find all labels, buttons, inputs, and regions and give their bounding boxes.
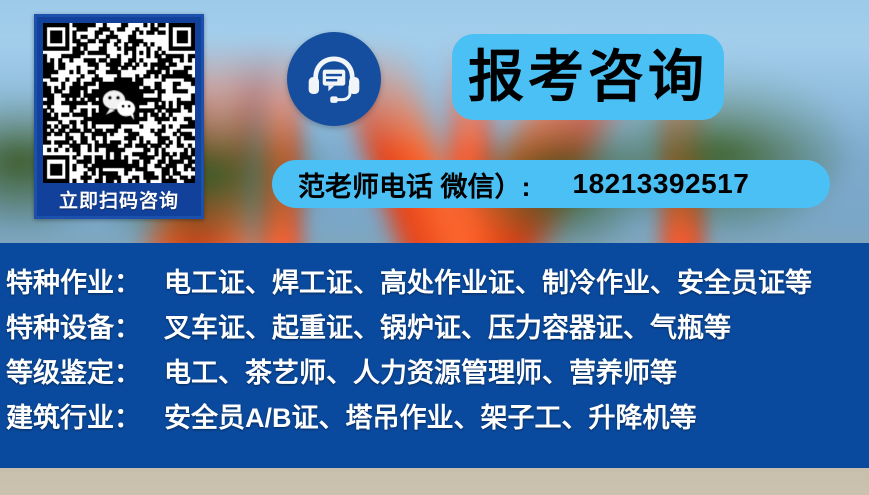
- services-row: 特种作业： 电工证、焊工证、高处作业证、制冷作业、安全员证等: [6, 261, 869, 306]
- headset-icon: [304, 49, 364, 109]
- qr-card[interactable]: 立即扫码咨询: [34, 14, 204, 219]
- title-pill: 报考咨询: [452, 34, 724, 120]
- services-row: 建筑行业： 安全员A/B证、塔吊作业、架子工、升降机等: [6, 396, 869, 441]
- service-items: 安全员A/B证、塔吊作业、架子工、升降机等: [164, 396, 697, 435]
- headset-support-badge: [287, 32, 381, 126]
- service-items: 电工、茶艺师、人力资源管理师、营养师等: [164, 351, 677, 390]
- services-panel: 特种作业： 电工证、焊工证、高处作业证、制冷作业、安全员证等 特种设备： 叉车证…: [0, 243, 869, 468]
- contact-label: 范老师电话 微信）:: [298, 165, 531, 204]
- services-row: 特种设备： 叉车证、起重证、锅炉证、压力容器证、气瓶等: [6, 306, 869, 351]
- promo-banner: 立即扫码咨询 报考咨询 范老师电话 微信）: 18213392517 特种作业：…: [0, 0, 869, 495]
- service-category: 建筑行业：: [6, 396, 158, 435]
- service-items: 叉车证、起重证、锅炉证、压力容器证、气瓶等: [164, 306, 731, 345]
- qr-code-icon: [43, 23, 195, 183]
- page-title: 报考咨询: [468, 49, 708, 105]
- services-row: 等级鉴定： 电工、茶艺师、人力资源管理师、营养师等: [6, 351, 869, 396]
- qr-caption: 立即扫码咨询: [43, 183, 195, 221]
- service-items: 电工证、焊工证、高处作业证、制冷作业、安全员证等: [164, 261, 812, 300]
- service-category: 特种设备：: [6, 306, 158, 345]
- qr-code-image[interactable]: [43, 23, 195, 183]
- contact-pill[interactable]: 范老师电话 微信）: 18213392517: [272, 160, 830, 208]
- contact-phone-number[interactable]: 18213392517: [573, 168, 750, 200]
- service-category: 特种作业：: [6, 261, 158, 300]
- service-category: 等级鉴定：: [6, 351, 158, 390]
